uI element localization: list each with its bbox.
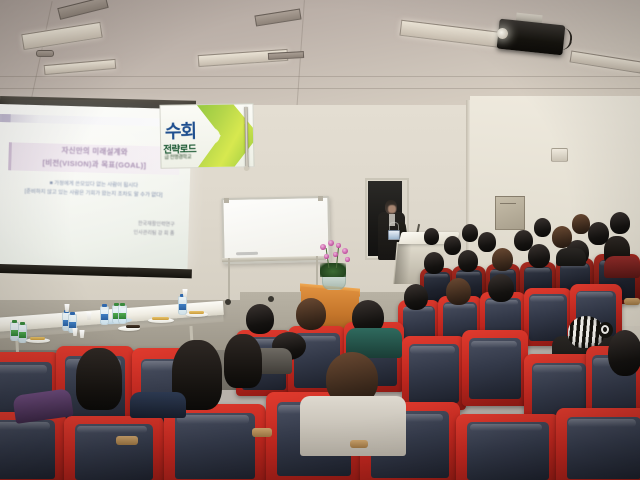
audience-head-f1	[424, 252, 444, 274]
snack-food-dark	[126, 325, 140, 328]
ceiling-light-5	[570, 50, 640, 73]
seat-r4-c5	[64, 416, 164, 480]
audience-head-f8	[478, 232, 496, 252]
ceiling-vent-1	[57, 0, 108, 20]
audience-head-f4	[528, 244, 550, 268]
audience-shoulder-f2	[556, 248, 586, 266]
audience-head-f12	[424, 228, 439, 245]
banner-title: 수회	[165, 117, 197, 144]
seat-r4-c9	[456, 414, 560, 480]
ceiling-vent-2	[254, 8, 301, 26]
audience-head-f14	[534, 218, 551, 237]
seat-armrest-1	[116, 436, 138, 445]
audience-shoulder-f1	[604, 256, 640, 278]
snack-food-2	[152, 317, 169, 320]
whiteboard-corner-right	[318, 196, 323, 201]
ceiling-light-3	[399, 20, 504, 49]
seat-r3-c5	[462, 330, 528, 406]
slide-title: 자신만의 미래설계와 [비전(VISION)과 목표(GOAL)]	[14, 142, 175, 172]
audience-head-f15	[572, 214, 590, 234]
orchid-bloom-3	[336, 243, 341, 248]
audience-head-f11	[588, 222, 609, 245]
ceiling-light-1	[21, 22, 103, 50]
audience-head-f10	[552, 226, 572, 248]
slide-footer-line2: 인사관리팀 강 희 종	[74, 227, 174, 239]
audience-head-n1	[246, 304, 274, 334]
snack-food-1	[30, 337, 45, 340]
audience-head-m3	[488, 274, 514, 302]
audience-head-f3	[492, 248, 513, 271]
slide-footer: 한국재활인력연구 인사관리팀 강 희 종	[74, 218, 174, 239]
seat-r4-c4	[0, 412, 66, 480]
wall-access-panel	[495, 196, 525, 230]
water-bottle-7	[118, 305, 127, 324]
audience-head-n2	[296, 298, 326, 330]
orchid-leaves	[320, 263, 346, 277]
seat-r3-c4	[402, 336, 466, 410]
water-bottle-5	[100, 306, 109, 325]
whiteboard-leg-left	[228, 258, 230, 300]
audience-head-f2	[458, 250, 478, 272]
banner-caption: 급 전명경학교	[164, 153, 191, 160]
whiteboard-corner-left	[224, 198, 229, 203]
banner-rod-cap	[244, 166, 249, 171]
snack-food-3	[189, 311, 204, 314]
water-bottle-8	[178, 296, 187, 315]
seat-armrest-2	[252, 428, 272, 437]
seat-armrest-4	[624, 298, 640, 305]
speaker-face	[388, 205, 396, 213]
whiteboard-caster-left	[225, 299, 231, 305]
seat-r4-c10	[556, 408, 640, 480]
ceiling-speaker	[36, 50, 54, 57]
wall-speaker-box	[551, 148, 568, 162]
projector-lens	[497, 28, 508, 39]
audience-head-near3	[224, 334, 262, 388]
audience-head-f9	[514, 230, 533, 251]
ceiling-light-4	[44, 59, 117, 75]
slide-body: ■ 가정에게 쓴모있다 없는 사람이 됩시다 [준비하지 않고 있는 사람은 기…	[5, 178, 181, 201]
slide-header-tick	[0, 114, 11, 122]
orchid-bloom-1	[320, 244, 326, 250]
audience-coat-navy	[130, 392, 186, 418]
orchid-bloom-2	[328, 240, 334, 246]
orchid-bloom-5	[324, 254, 329, 259]
audience-head-m1	[404, 284, 428, 310]
audience-head-f13	[462, 224, 478, 242]
audience-head-f16	[610, 212, 630, 234]
audience-head-near5	[608, 330, 640, 376]
orchid-bloom-7	[333, 252, 338, 257]
whiteboard-caster-mid	[268, 296, 274, 302]
lecture-hall-photo: 자신만의 미래설계와 [비전(VISION)과 목표(GOAL)] ■ 가정에게…	[0, 0, 640, 480]
beanie-spiral-core	[603, 327, 607, 332]
wall-banner: 수회 전략로드 급 전명경학교	[159, 103, 254, 169]
audience-head-near1	[76, 348, 122, 410]
audience-head-m2	[446, 278, 471, 305]
speaker-name-badge	[388, 230, 400, 240]
whiteboard-eraser	[236, 252, 258, 255]
ceiling-vent-3	[268, 51, 304, 60]
seat-armrest-3	[350, 440, 368, 448]
wall-panel-seam	[500, 203, 516, 204]
orchid-bloom-4	[342, 248, 348, 254]
orchid-bloom-6	[345, 257, 350, 262]
audience-head-f7	[444, 236, 461, 255]
